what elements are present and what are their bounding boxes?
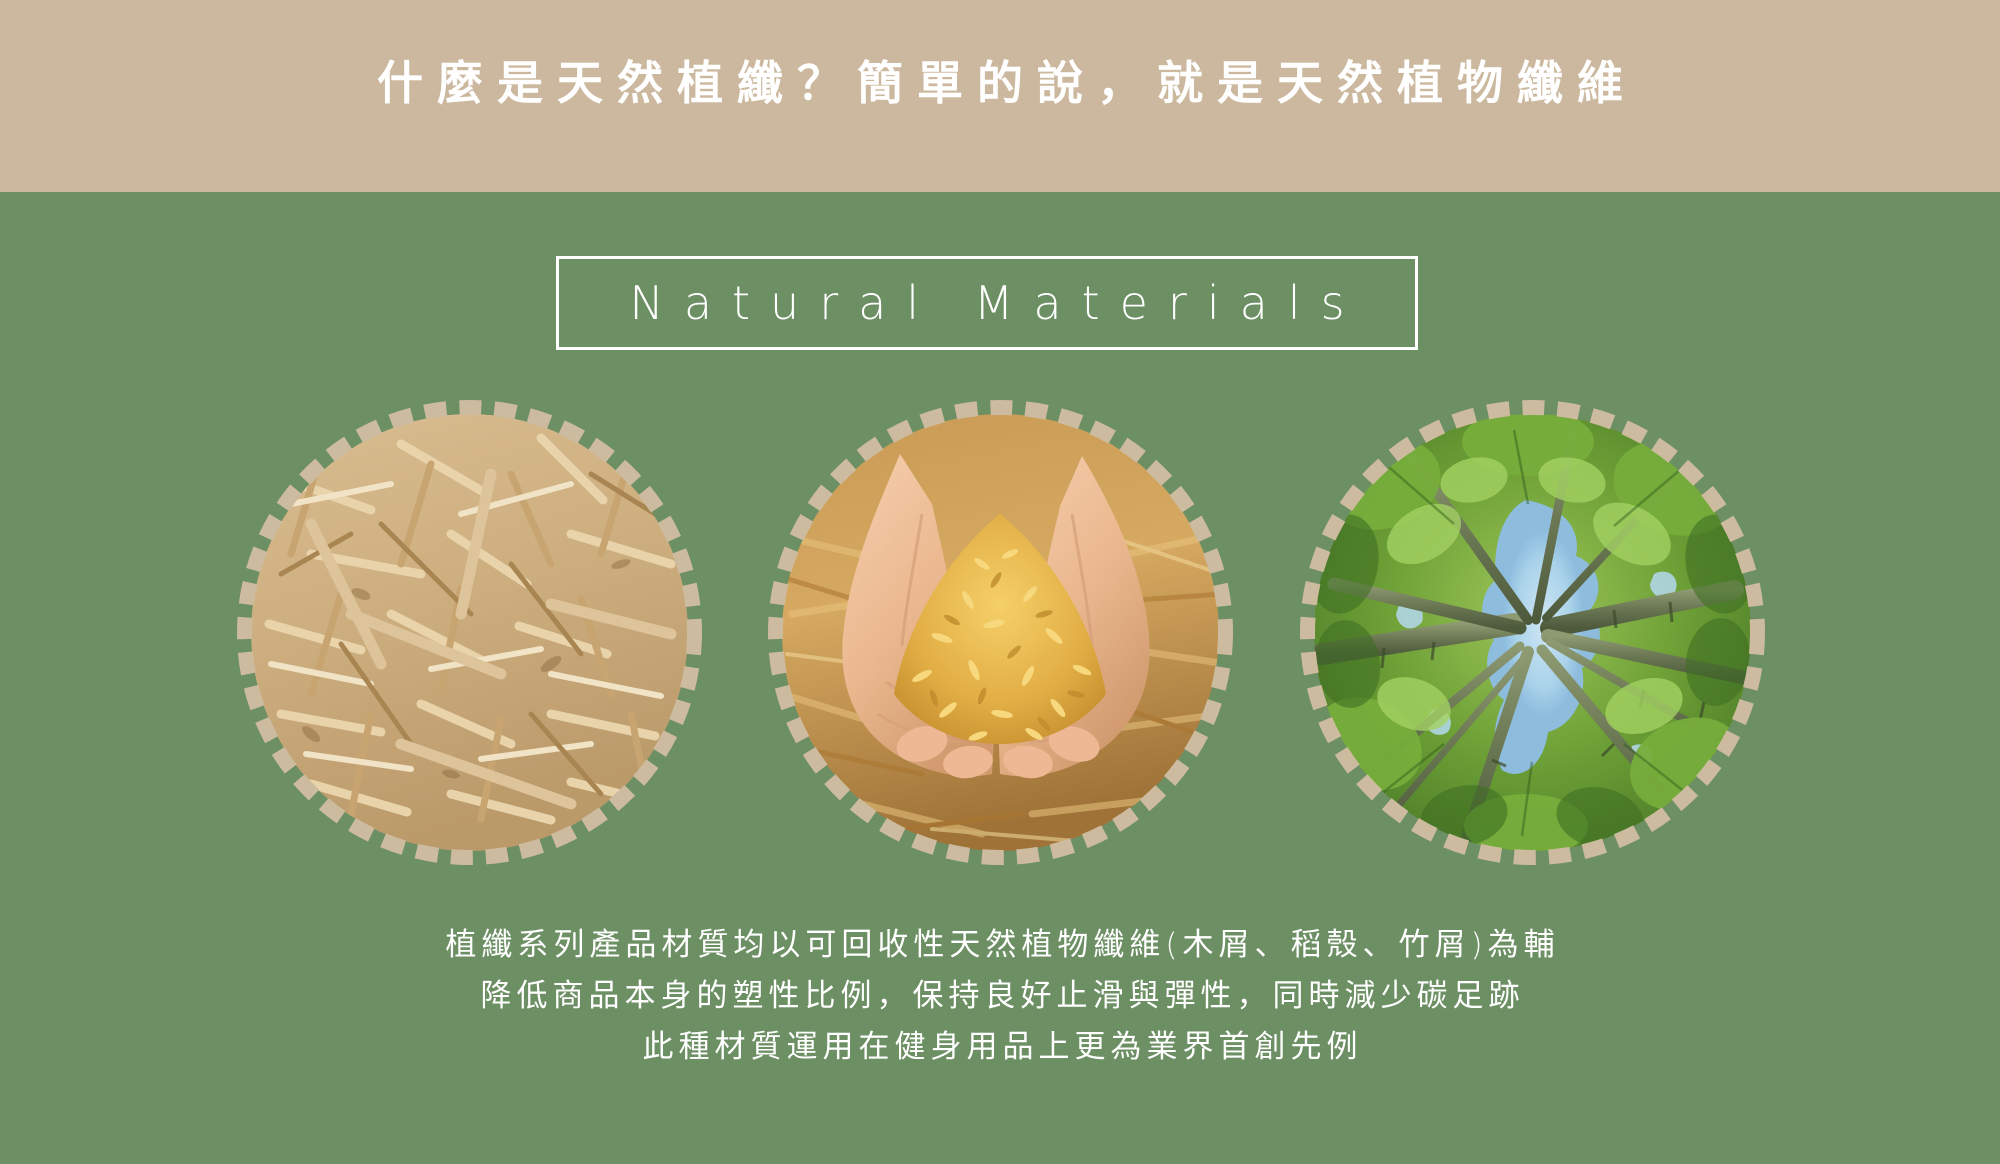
section-title-box: Natural Materials <box>556 256 1418 350</box>
header-title: 什麼是天然植纖？簡單的說，就是天然植物纖維 <box>0 56 2000 111</box>
description-paragraph: 植纖系列產品材質均以可回收性天然植物纖維(木屑、稻殼、竹屑)為輔 降低商品本身的… <box>0 920 2000 1073</box>
section-title-label: Natural Materials <box>609 276 1364 330</box>
material-gallery <box>0 400 2000 870</box>
description-line-2: 降低商品本身的塑性比例，保持良好止滑與彈性，同時減少碳足跡 <box>0 971 2000 1022</box>
rice-husk-in-hands-photo <box>782 414 1219 851</box>
promo-banner: 什麼是天然植纖？簡單的說，就是天然植物纖維 Natural Materials <box>0 0 2000 1164</box>
description-line-3: 此種材質運用在健身用品上更為業界首創先例 <box>0 1022 2000 1073</box>
gallery-item-bamboo[interactable] <box>1300 400 1765 865</box>
description-line-1: 植纖系列產品材質均以可回收性天然植物纖維(木屑、稻殼、竹屑)為輔 <box>0 920 2000 971</box>
bamboo-forest-photo <box>1314 414 1751 851</box>
gallery-item-wood-shavings[interactable] <box>237 400 702 865</box>
gallery-item-rice-husk[interactable] <box>768 400 1233 865</box>
header-band: 什麼是天然植纖？簡單的說，就是天然植物纖維 <box>0 0 2000 192</box>
wood-shavings-photo <box>251 414 688 851</box>
